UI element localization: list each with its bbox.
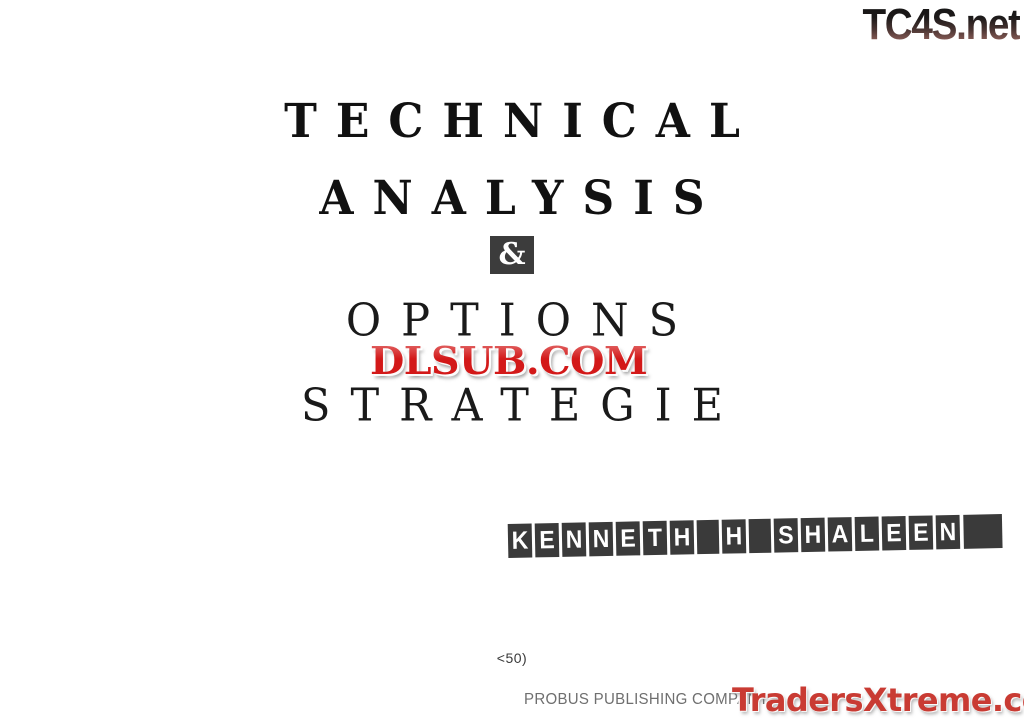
author-tile-n: N [589,522,614,556]
author-tile-t: T [643,521,668,555]
title-line-analysis: ANALYSIS [0,173,1024,226]
tradersxtreme-watermark: TradersXtreme.com [732,682,1024,718]
dlsub-watermark-text: DLSUB.COM [370,338,647,383]
author-tile-blank [697,520,720,554]
title-line-strategies: STRATEGIE [0,381,1024,431]
author-tile-h: H [670,520,695,554]
author-tile-e: E [616,521,641,555]
tc4s-watermark: TC4S.net [863,2,1020,48]
author-tile-blank [749,519,772,553]
scan-artifact-mark: <50) [0,650,1024,666]
author-tile-s: S [774,518,799,552]
author-tile-k: K [508,524,533,558]
author-tile-e: E [882,516,907,550]
author-name-plate: KENNETHHSHALEEN [507,514,1006,558]
author-tile-l: L [855,517,880,551]
author-tile-h: H [801,518,826,552]
author-tile-blank [963,514,1002,549]
ampersand-block: & [0,236,1024,274]
title-line-technical: TECHNICAL [0,96,1024,149]
book-cover-page: TC4S.net TECHNICAL ANALYSIS & OPTIONS DL… [0,0,1024,724]
author-tile-n: N [562,522,587,556]
ampersand-tile: & [490,236,534,274]
author-tile-a: A [828,517,853,551]
author-tile-h: H [722,519,747,553]
author-tile-e: E [909,515,934,549]
author-tile-e: E [535,523,560,557]
dlsub-watermark: DLSUB.COM [370,340,647,382]
author-tile-n: N [936,515,961,549]
